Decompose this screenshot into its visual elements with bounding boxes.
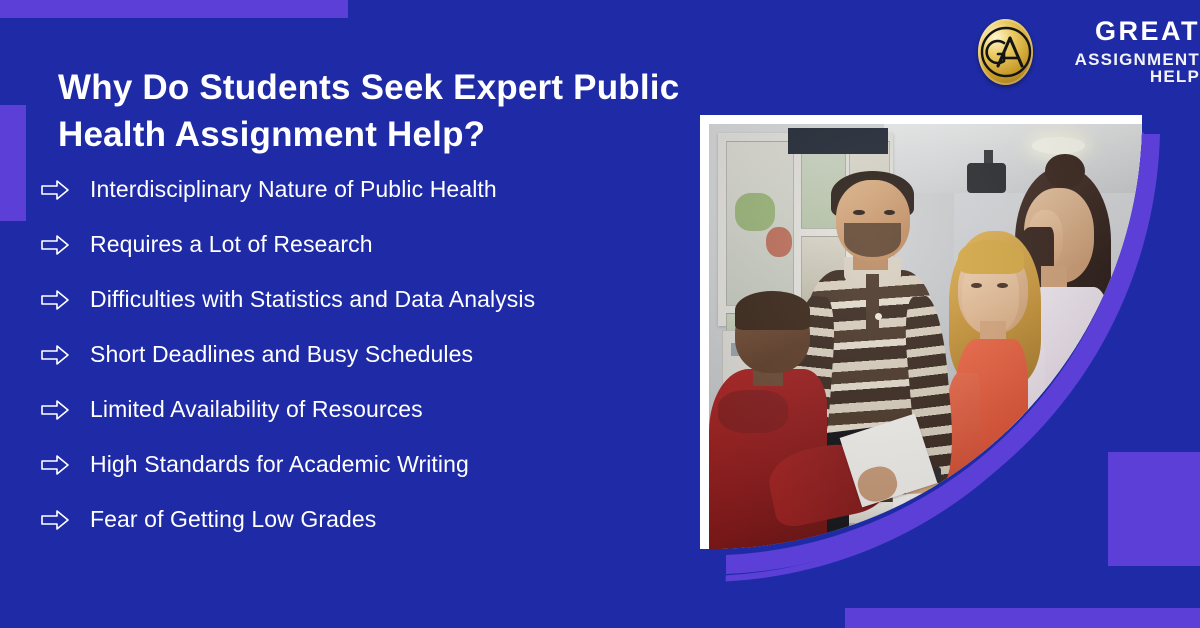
decor-left-purple-block — [0, 105, 26, 221]
right-arrow-outline-icon — [40, 234, 70, 256]
list-item-label: Interdisciplinary Nature of Public Healt… — [90, 176, 497, 203]
page-title: Why Do Students Seek Expert Public Healt… — [58, 65, 698, 157]
promotional-banner: GREAT ASSIGNMENT HELP Why Do Students Se… — [0, 0, 1200, 628]
list-item-label: Fear of Getting Low Grades — [90, 506, 376, 533]
right-arrow-outline-icon — [40, 344, 70, 366]
right-arrow-outline-icon — [40, 454, 70, 476]
list-item: Interdisciplinary Nature of Public Healt… — [40, 176, 690, 203]
ga-monogram-icon — [978, 19, 1033, 85]
brand-line-assignment-help: ASSIGNMENT HELP — [1047, 51, 1200, 85]
list-item-label: Difficulties with Statistics and Data An… — [90, 286, 535, 313]
list-item-label: Requires a Lot of Research — [90, 231, 373, 258]
list-item: Short Deadlines and Busy Schedules — [40, 341, 690, 368]
list-item-label: High Standards for Academic Writing — [90, 451, 469, 478]
right-arrow-outline-icon — [40, 179, 70, 201]
decor-bottom-purple-bar — [845, 608, 1200, 628]
list-item: Difficulties with Statistics and Data An… — [40, 286, 690, 313]
right-arrow-outline-icon — [40, 509, 70, 531]
list-item: High Standards for Academic Writing — [40, 451, 690, 478]
brand-line-great: GREAT — [1047, 18, 1200, 45]
list-item: Limited Availability of Resources — [40, 396, 690, 423]
list-item-label: Short Deadlines and Busy Schedules — [90, 341, 473, 368]
brand-logo[interactable]: GREAT ASSIGNMENT HELP — [978, 18, 1200, 85]
list-item-label: Limited Availability of Resources — [90, 396, 423, 423]
list-item: Fear of Getting Low Grades — [40, 506, 690, 533]
reasons-list: Interdisciplinary Nature of Public Healt… — [40, 176, 690, 533]
brand-wordmark: GREAT ASSIGNMENT HELP — [1047, 18, 1200, 85]
list-item: Requires a Lot of Research — [40, 231, 690, 258]
right-arrow-outline-icon — [40, 399, 70, 421]
decor-top-purple-bar — [0, 0, 348, 18]
photo-cluster — [690, 100, 1200, 580]
right-arrow-outline-icon — [40, 289, 70, 311]
